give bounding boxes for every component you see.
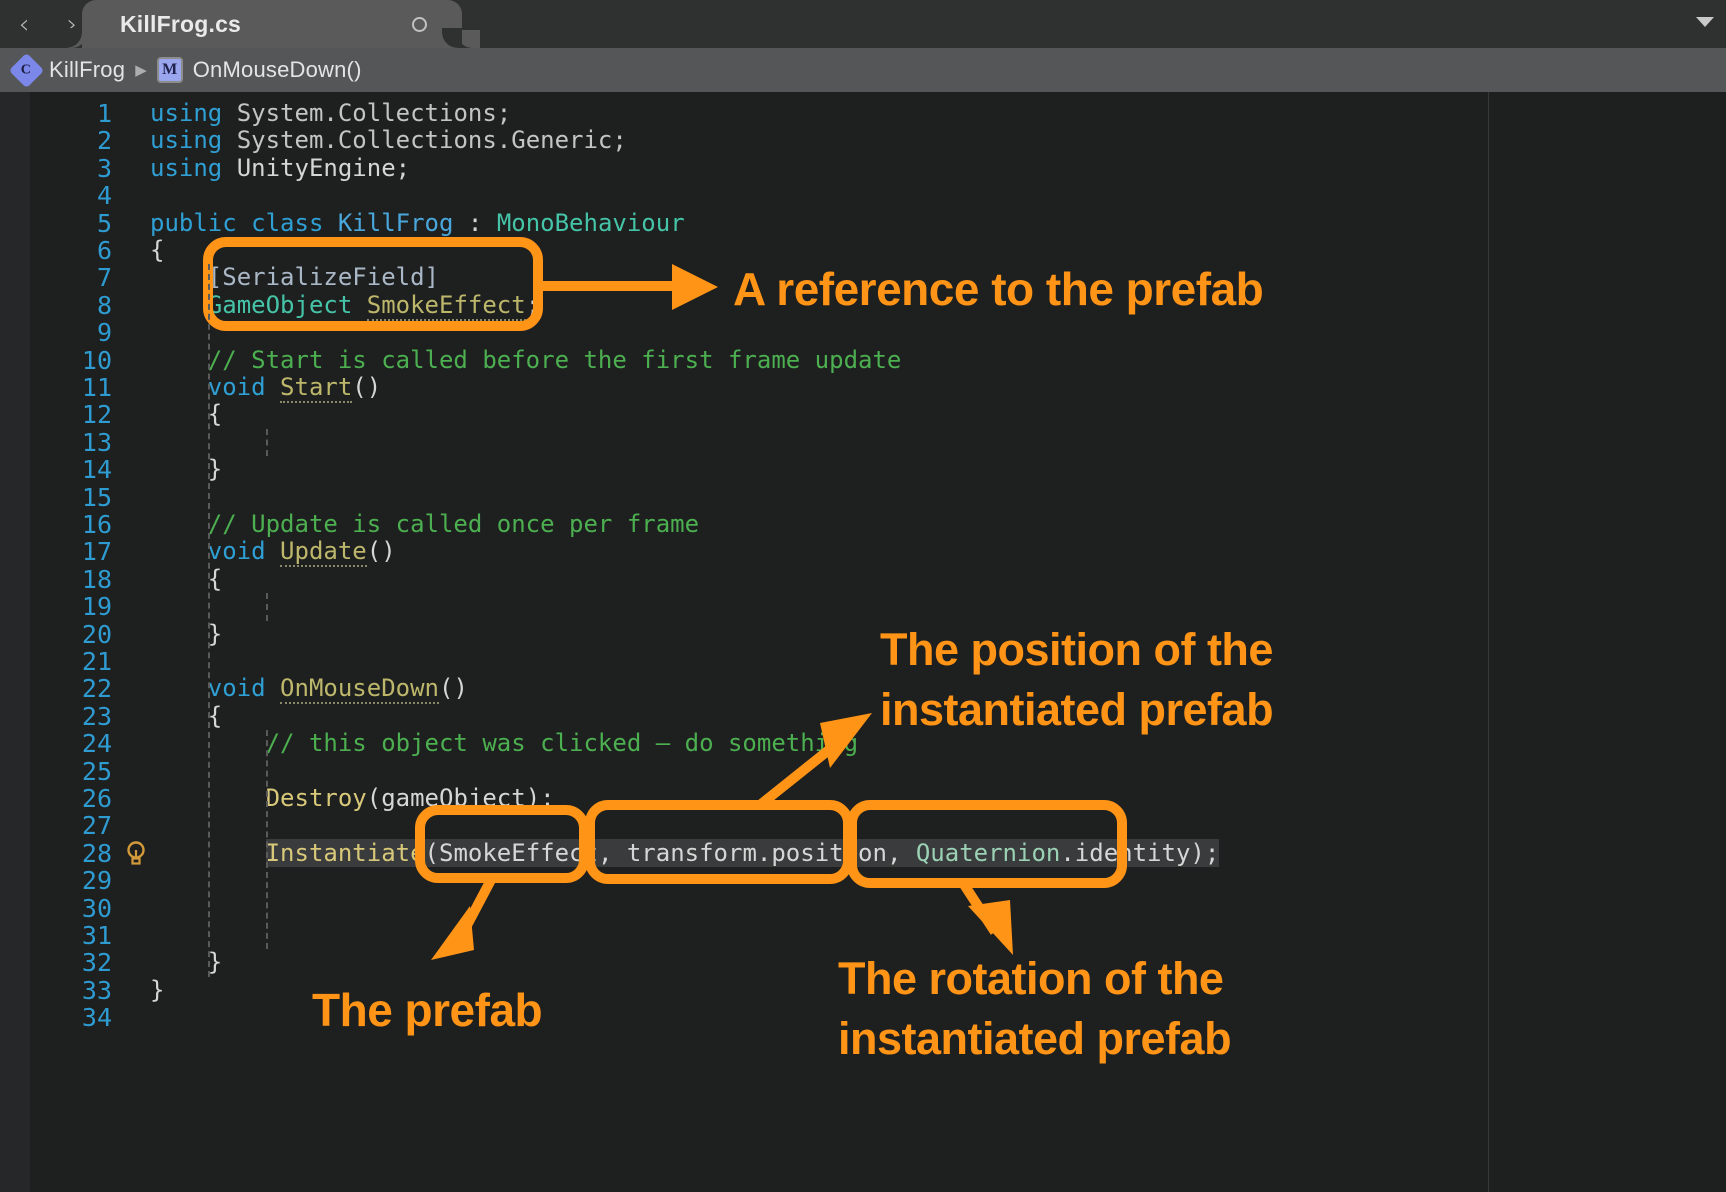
code-line[interactable]: { (150, 566, 222, 593)
line-number: 8 (32, 292, 112, 319)
lightbulb-icon[interactable] (123, 839, 149, 867)
code-token: (gameObject); (367, 784, 555, 812)
code-token: () (439, 674, 468, 702)
code-token: // Update is called once per frame (208, 510, 699, 538)
class-icon-letter: C (21, 62, 31, 78)
indent-guide (266, 429, 268, 456)
line-number: 24 (32, 730, 112, 757)
code-line[interactable]: void OnMouseDown() (150, 675, 468, 702)
code-line[interactable]: // Start is called before the first fram… (150, 347, 901, 374)
editor-tab-killfrog[interactable]: KillFrog.cs (82, 0, 462, 48)
code-token: , (598, 839, 627, 867)
code-token: Instantiate (266, 839, 425, 867)
line-number: 28 (32, 840, 112, 867)
code-token: // this object was clicked – do somethin… (266, 729, 858, 757)
code-token: () (367, 537, 396, 565)
code-line[interactable]: Instantiate(SmokeEffect, transform.posit… (150, 840, 1219, 867)
breadcrumb-separator-icon: ▶ (135, 61, 147, 79)
indent-guide (266, 593, 268, 620)
class-icon: C (9, 52, 44, 87)
code-line[interactable]: Destroy(gameObject); (150, 785, 555, 812)
indent-guide (266, 730, 268, 949)
line-number: 21 (32, 648, 112, 675)
code-token: Start (280, 373, 352, 403)
code-token: GameObject (208, 291, 353, 319)
code-line[interactable]: [SerializeField] (150, 264, 439, 291)
line-number: 23 (32, 703, 112, 730)
line-number: 4 (32, 182, 112, 209)
indent-guide (208, 264, 210, 976)
code-line[interactable] (150, 648, 208, 675)
line-number: 29 (32, 867, 112, 894)
line-number: 11 (32, 374, 112, 401)
code-token: .position (757, 839, 887, 867)
code-line[interactable]: using System.Collections.Generic; (150, 127, 627, 154)
line-number: 17 (32, 538, 112, 565)
line-number: 6 (32, 237, 112, 264)
code-token (352, 291, 366, 319)
code-token: ); (1190, 839, 1219, 867)
code-token: // Start is called before the first fram… (208, 346, 902, 374)
code-token: ( (425, 839, 439, 867)
code-line[interactable]: void Update() (150, 538, 396, 565)
code-token: System.Collections.Generic; (237, 126, 627, 154)
code-line[interactable] (150, 319, 208, 346)
code-line[interactable]: { (150, 401, 222, 428)
line-number: 32 (32, 949, 112, 976)
code-token: Quaternion (916, 839, 1061, 867)
code-token: using (150, 126, 237, 154)
line-number: 16 (32, 511, 112, 538)
code-token: Destroy (266, 784, 367, 812)
code-token: } (150, 976, 164, 1004)
code-line[interactable]: void Start() (150, 374, 381, 401)
code-token: void (208, 373, 280, 401)
code-line[interactable] (150, 484, 208, 511)
line-number: 15 (32, 484, 112, 511)
tab-bar: ‹ › KillFrog.cs (0, 0, 1726, 48)
breadcrumb-class-name[interactable]: KillFrog (49, 57, 125, 83)
line-number: 7 (32, 264, 112, 291)
breadcrumb-method-name[interactable]: OnMouseDown() (193, 57, 362, 83)
code-token: SmokeEffect (367, 291, 526, 321)
code-line[interactable]: using UnityEngine; (150, 155, 410, 182)
tab-title: KillFrog.cs (120, 11, 241, 38)
code-token: Update (280, 537, 367, 567)
code-token: System.Collections; (237, 99, 512, 127)
line-number: 5 (32, 210, 112, 237)
chevron-down-icon[interactable] (1696, 17, 1714, 27)
code-token: () (352, 373, 381, 401)
code-line[interactable]: } (150, 977, 164, 1004)
code-token: transform (627, 839, 757, 867)
line-number: 9 (32, 319, 112, 346)
code-token: } (208, 620, 222, 648)
code-line[interactable]: { (150, 703, 222, 730)
code-token: } (208, 455, 222, 483)
code-editor[interactable]: 1234567891011121314151617181920212223242… (0, 92, 1726, 1192)
code-line[interactable]: public class KillFrog : MonoBehaviour (150, 210, 685, 237)
line-number: 22 (32, 675, 112, 702)
code-line[interactable]: } (150, 949, 222, 976)
code-token: SmokeEffect (439, 839, 598, 867)
line-number: 14 (32, 456, 112, 483)
breadcrumb: C KillFrog ▶ M OnMouseDown() (0, 48, 1726, 92)
editor-left-stripe (0, 92, 30, 1192)
code-token: MonoBehaviour (497, 209, 685, 237)
code-token: class (251, 209, 338, 237)
line-number: 13 (32, 429, 112, 456)
code-token: { (150, 236, 164, 264)
right-margin-ruler (1488, 92, 1489, 1192)
code-token: UnityEngine; (237, 154, 410, 182)
code-text[interactable]: using System.Collections;using System.Co… (150, 92, 1726, 1192)
line-number: 2 (32, 127, 112, 154)
line-number: 1 (32, 100, 112, 127)
circle-outline-icon[interactable] (412, 17, 427, 32)
code-line[interactable]: } (150, 621, 222, 648)
code-token: void (208, 674, 280, 702)
code-token: ; (526, 291, 540, 319)
code-token: public (150, 209, 251, 237)
code-token: { (208, 702, 222, 730)
method-icon: M (157, 57, 183, 83)
code-token: .identity (1060, 839, 1190, 867)
code-line[interactable]: // this object was clicked – do somethin… (150, 730, 858, 757)
code-token: [SerializeField] (208, 263, 439, 291)
line-number: 3 (32, 155, 112, 182)
code-token: void (208, 537, 280, 565)
code-token: using (150, 154, 237, 182)
code-token: using (150, 99, 237, 127)
line-number: 12 (32, 401, 112, 428)
line-number-gutter: 1234567891011121314151617181920212223242… (30, 92, 118, 1192)
code-token: , (887, 839, 916, 867)
code-line[interactable]: using System.Collections; (150, 100, 511, 127)
line-number: 19 (32, 593, 112, 620)
line-number: 31 (32, 922, 112, 949)
code-token: OnMouseDown (280, 674, 439, 704)
line-number: 10 (32, 347, 112, 374)
line-number: 20 (32, 621, 112, 648)
code-token: } (208, 948, 222, 976)
code-line[interactable]: { (150, 237, 164, 264)
line-number: 27 (32, 812, 112, 839)
nav-back-icon[interactable]: ‹ (19, 11, 30, 38)
line-number: 26 (32, 785, 112, 812)
line-number: 18 (32, 566, 112, 593)
line-number: 30 (32, 895, 112, 922)
code-token: KillFrog (338, 209, 454, 237)
method-icon-letter: M (162, 61, 177, 79)
code-line[interactable]: } (150, 456, 222, 483)
code-line[interactable]: // Update is called once per frame (150, 511, 699, 538)
code-token: { (208, 565, 222, 593)
line-number: 33 (32, 977, 112, 1004)
code-token: : (453, 209, 496, 237)
code-token: { (208, 400, 222, 428)
line-number: 25 (32, 758, 112, 785)
line-number: 34 (32, 1004, 112, 1031)
